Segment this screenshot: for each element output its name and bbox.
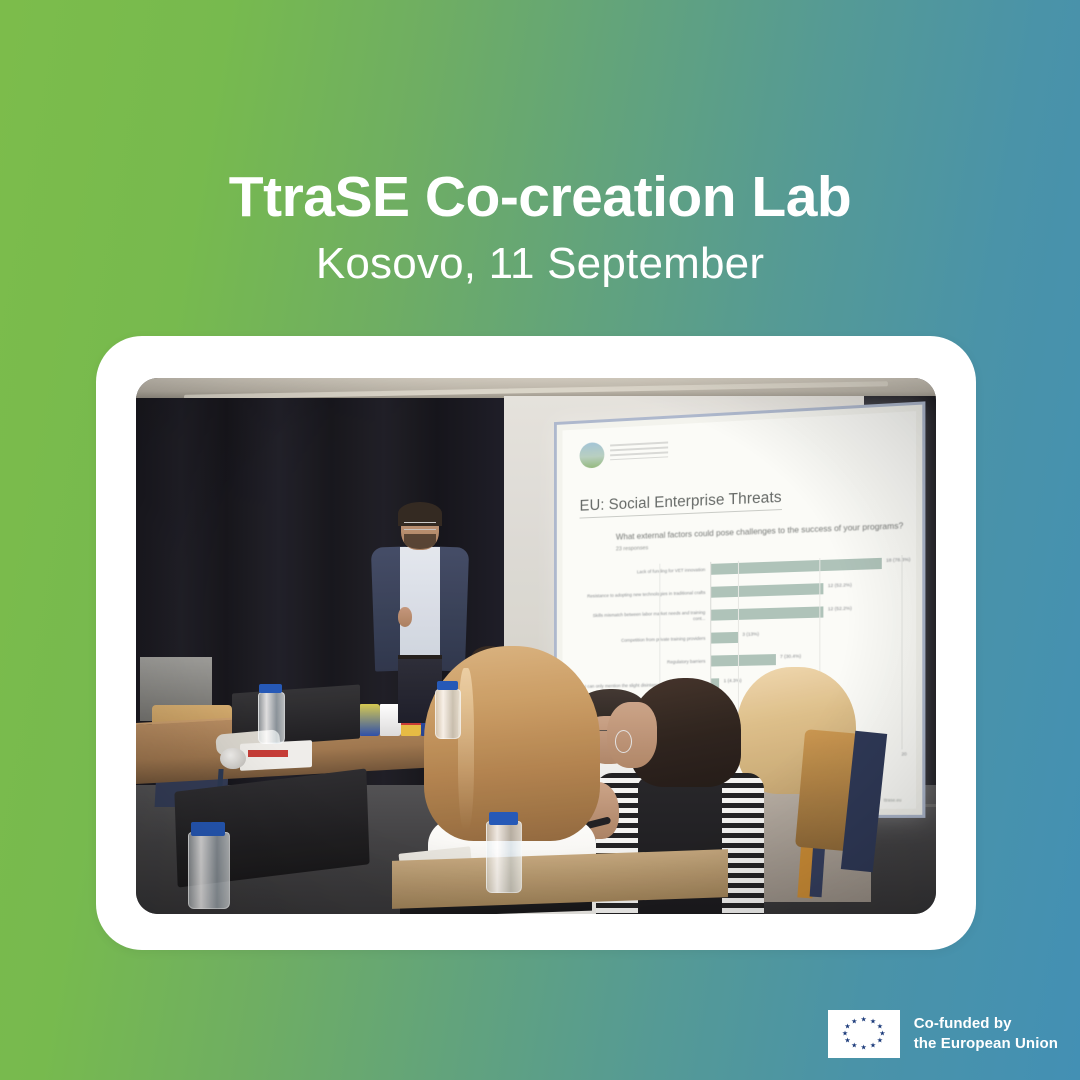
eu-funding-logo: ★★★★★★★★★★★★ Co-funded by the European U… [828, 1010, 1058, 1058]
eu-flag-star: ★ [844, 1038, 850, 1045]
eu-flag-star: ★ [870, 1018, 876, 1025]
photo-card: EU: Social Enterprise Threats What exter… [96, 336, 976, 950]
face-profile [607, 702, 657, 768]
eu-funding-text: Co-funded by the European Union [914, 1014, 1058, 1055]
eu-flag-star: ★ [877, 1023, 883, 1030]
chart-bar-value: 12 (52.2%) [828, 583, 852, 589]
eu-flag-star: ★ [851, 1043, 857, 1050]
page-title: TtraSE Co-creation Lab [0, 168, 1080, 228]
chart-bar-label: Competition from private training provid… [581, 636, 705, 645]
chart-bar-row: Competition from private training provid… [581, 626, 901, 650]
presenter-shirt [400, 547, 440, 658]
chart-bar-fill [710, 632, 738, 644]
chart-gridline [901, 555, 902, 749]
presenter-glasses [404, 522, 435, 530]
page-subtitle: Kosovo, 11 September [0, 240, 1080, 288]
water-bottle-2 [435, 689, 461, 739]
poster-canvas: TtraSE Co-creation Lab Kosovo, 11 Septem… [0, 0, 1080, 1080]
chart-bar-row: Resistance to adopting new technologies … [581, 579, 901, 605]
bottle-cap-2 [437, 681, 458, 690]
chart-bar-value: 3 (13%) [742, 632, 759, 637]
chart-bar-fill [710, 583, 824, 598]
heading-block: TtraSE Co-creation Lab Kosovo, 11 Septem… [0, 168, 1080, 288]
chart-bar-label: Skills mismatch between labor market nee… [581, 610, 705, 625]
slide-response-count: 23 responses [616, 545, 648, 552]
bottle-cap-4 [489, 812, 518, 825]
chart-bar-value: 12 (52.2%) [828, 607, 852, 613]
chart-bar-fill [710, 558, 882, 575]
chart-bar-fill [710, 654, 776, 666]
eu-flag-star: ★ [844, 1023, 850, 1030]
water-bottle-4 [486, 821, 522, 893]
chart-bar-value: 18 (78.3%) [886, 558, 910, 564]
eu-flag-star: ★ [851, 1018, 857, 1025]
slide-footer-url: ttrase.eu [884, 797, 902, 802]
bottle-cap-3 [191, 822, 225, 836]
eu-flag-icon: ★★★★★★★★★★★★ [828, 1010, 900, 1058]
chart-bar-label: Lack of funding for VET innovation [581, 567, 705, 577]
stripe-decoration [560, 0, 1080, 185]
slide-logo-text [610, 441, 668, 460]
chart-bar-fill [710, 606, 824, 620]
event-photo: EU: Social Enterprise Threats What exter… [136, 378, 936, 914]
eu-flag-star: ★ [861, 1016, 867, 1023]
radiating-stripe-fan [590, 0, 1080, 185]
eu-flag-star: ★ [861, 1045, 867, 1052]
water-bottle-1 [258, 692, 286, 745]
bottle-cap-1 [259, 684, 281, 694]
water-bottle-3 [188, 832, 230, 909]
chart-bar-row: Skills mismatch between labor market nee… [581, 602, 901, 627]
box-label [248, 750, 288, 757]
chart-bar-value: 7 (30.4%) [780, 655, 801, 661]
slide-logo-icon [580, 442, 605, 469]
chart-bar-row: Lack of funding for VET innovation18 (78… [581, 555, 901, 582]
eu-funding-line1: Co-funded by [914, 1014, 1058, 1034]
chart-x-tick: 20 [901, 751, 906, 756]
slide-title: EU: Social Enterprise Threats [580, 489, 782, 519]
round-object [220, 748, 246, 769]
slide-question: What external factors could pose challen… [616, 520, 903, 541]
eu-flag-star: ★ [842, 1031, 848, 1038]
eu-flag-star: ★ [879, 1031, 885, 1038]
presenter-hand [398, 607, 413, 626]
eu-funding-line2: the European Union [914, 1034, 1058, 1054]
eu-flag-star: ★ [870, 1043, 876, 1050]
photo-scene: EU: Social Enterprise Threats What exter… [136, 378, 936, 914]
eu-flag-star: ★ [877, 1038, 883, 1045]
chart-bar-label: Resistance to adopting new technologies … [581, 590, 705, 600]
